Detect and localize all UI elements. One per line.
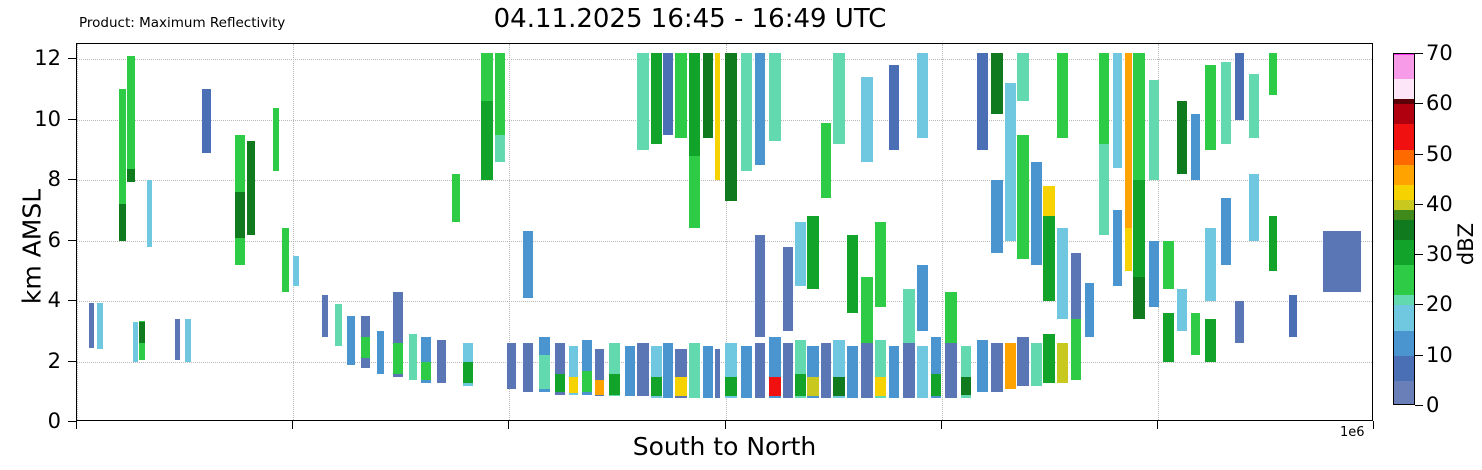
reflectivity-column: [1205, 44, 1216, 420]
reflectivity-segment: [961, 377, 971, 395]
reflectivity-segment: [725, 53, 737, 201]
reflectivity-column: [293, 44, 299, 420]
reflectivity-segment: [1235, 53, 1244, 120]
colorbar-segment: [1394, 104, 1414, 124]
reflectivity-column: [945, 44, 957, 420]
y-tick-mark: [68, 421, 76, 422]
reflectivity-segment: [715, 53, 720, 180]
reflectivity-segment: [1071, 319, 1081, 379]
reflectivity-segment: [755, 53, 765, 165]
reflectivity-segment: [689, 53, 700, 156]
reflectivity-segment: [507, 343, 516, 388]
reflectivity-segment: [991, 180, 1003, 253]
reflectivity-column: [1113, 44, 1122, 420]
reflectivity-segment: [495, 135, 505, 162]
reflectivity-segment: [769, 53, 781, 141]
reflectivity-segment: [663, 53, 673, 135]
reflectivity-segment: [1031, 343, 1042, 385]
reflectivity-segment: [335, 304, 342, 346]
reflectivity-segment: [795, 222, 806, 286]
reflectivity-segment: [889, 346, 899, 397]
reflectivity-segment: [675, 53, 687, 138]
reflectivity-segment: [755, 343, 765, 397]
reflectivity-segment: [1323, 231, 1361, 291]
reflectivity-segment: [609, 374, 620, 395]
reflectivity-segment: [861, 343, 873, 397]
reflectivity-column: [481, 44, 493, 420]
reflectivity-segment: [235, 192, 245, 237]
reflectivity-segment: [1133, 277, 1145, 319]
reflectivity-column: [689, 44, 700, 420]
reflectivity-segment: [139, 322, 145, 343]
reflectivity-segment: [769, 377, 781, 397]
colorbar-segment: [1394, 79, 1414, 99]
reflectivity-column: [1177, 44, 1187, 420]
reflectivity-column: [89, 44, 94, 420]
plot-area: [76, 43, 1373, 421]
y-tick-label: 8: [21, 167, 61, 191]
reflectivity-segment: [569, 377, 578, 394]
colorbar-tick-label: 60: [1426, 91, 1453, 115]
x-tick-mark: [76, 421, 77, 429]
y-tick-mark: [68, 300, 76, 301]
reflectivity-segment: [903, 289, 915, 349]
reflectivity-column: [637, 44, 649, 420]
reflectivity-column: [555, 44, 565, 420]
reflectivity-column: [1323, 44, 1361, 420]
x-tick-mark: [508, 421, 509, 429]
reflectivity-column: [409, 44, 417, 420]
reflectivity-segment: [1177, 101, 1187, 174]
colorbar-segment: [1394, 165, 1414, 185]
reflectivity-segment: [795, 374, 806, 397]
colorbar-segment: [1394, 381, 1414, 405]
x-tick-mark: [1373, 421, 1374, 429]
reflectivity-column: [393, 44, 403, 420]
reflectivity-segment: [1235, 301, 1244, 343]
colorbar-tick-mark: [1415, 103, 1423, 104]
colorbar-segment: [1394, 210, 1414, 220]
reflectivity-segment: [582, 371, 592, 392]
colorbar-segment: [1394, 265, 1414, 295]
reflectivity-column: [1133, 44, 1145, 420]
reflectivity-segment: [1205, 228, 1216, 301]
reflectivity-segment: [1177, 289, 1187, 331]
reflectivity-column: [1289, 44, 1297, 420]
reflectivity-segment: [1205, 65, 1216, 150]
reflectivity-column: [977, 44, 988, 420]
reflectivity-segment: [945, 292, 957, 349]
colorbar-tick-mark: [1415, 304, 1423, 305]
reflectivity-segment: [1191, 313, 1200, 355]
reflectivity-segment: [917, 53, 928, 138]
reflectivity-segment: [1269, 216, 1277, 270]
colorbar-segment: [1394, 295, 1414, 305]
reflectivity-segment: [931, 374, 941, 397]
colorbar-segment: [1394, 200, 1414, 210]
reflectivity-segment: [495, 53, 505, 135]
reflectivity-segment: [377, 331, 384, 373]
reflectivity-segment: [715, 349, 720, 397]
reflectivity-column: [463, 44, 473, 420]
y-tick-label: 10: [21, 107, 61, 131]
reflectivity-segment: [409, 334, 417, 379]
reflectivity-segment: [1269, 53, 1277, 95]
reflectivity-column: [861, 44, 873, 420]
reflectivity-segment: [1099, 53, 1109, 144]
reflectivity-column: [97, 44, 103, 420]
reflectivity-segment: [481, 53, 493, 101]
reflectivity-segment: [889, 65, 899, 150]
reflectivity-segment: [393, 343, 403, 373]
reflectivity-segment: [89, 303, 94, 348]
reflectivity-segment: [175, 319, 180, 360]
colorbar: [1393, 53, 1415, 405]
reflectivity-column: [795, 44, 806, 420]
y-tick-label: 12: [21, 46, 61, 70]
reflectivity-column: [715, 44, 720, 420]
reflectivity-column: [185, 44, 191, 420]
reflectivity-column: [903, 44, 915, 420]
reflectivity-segment: [903, 343, 915, 397]
reflectivity-segment: [847, 346, 858, 397]
reflectivity-segment: [725, 377, 737, 397]
reflectivity-column: [1099, 44, 1109, 420]
reflectivity-segment: [347, 316, 355, 364]
reflectivity-column: [889, 44, 899, 420]
reflectivity-column: [769, 44, 781, 420]
reflectivity-column: [452, 44, 460, 420]
x-axis-offset-text: 1e6: [1340, 425, 1365, 440]
reflectivity-segment: [1125, 228, 1132, 270]
reflectivity-segment: [675, 377, 687, 397]
x-tick-mark: [292, 421, 293, 429]
colorbar-segment: [1394, 331, 1414, 356]
reflectivity-column: [147, 44, 152, 420]
reflectivity-segment: [133, 322, 138, 361]
colorbar-segment: [1394, 240, 1414, 265]
x-tick-mark: [725, 421, 726, 429]
colorbar-tick-mark: [1415, 405, 1423, 406]
reflectivity-column: [651, 44, 662, 420]
reflectivity-column: [361, 44, 370, 420]
y-tick-mark: [68, 119, 76, 120]
reflectivity-segment: [637, 53, 649, 150]
reflectivity-column: [421, 44, 431, 420]
reflectivity-column: [1235, 44, 1244, 420]
reflectivity-segment: [1005, 343, 1016, 388]
reflectivity-segment: [703, 53, 713, 138]
reflectivity-segment: [1221, 198, 1231, 265]
reflectivity-column: [1005, 44, 1016, 420]
reflectivity-segment: [807, 216, 819, 289]
reflectivity-segment: [452, 174, 460, 222]
reflectivity-column: [609, 44, 620, 420]
reflectivity-segment: [875, 222, 886, 307]
reflectivity-segment: [755, 235, 765, 338]
x-axis-label: South to North: [76, 432, 1373, 461]
reflectivity-column: [991, 44, 1003, 420]
reflectivity-segment: [1113, 53, 1122, 168]
colorbar-segment: [1394, 356, 1414, 381]
reflectivity-column: [1017, 44, 1029, 420]
reflectivity-column: [1057, 44, 1068, 420]
reflectivity-segment: [807, 377, 819, 397]
reflectivity-segment: [861, 77, 873, 162]
y-tick-label: 2: [21, 349, 61, 373]
reflectivity-column: [569, 44, 578, 420]
reflectivity-segment: [917, 265, 928, 332]
y-tick-label: 6: [21, 228, 61, 252]
colorbar-tick-label: 30: [1426, 242, 1453, 266]
reflectivity-segment: [1191, 114, 1200, 181]
reflectivity-column: [931, 44, 941, 420]
colorbar-segment: [1394, 99, 1414, 104]
gridline-vertical: [77, 44, 78, 420]
reflectivity-column: [523, 44, 533, 420]
reflectivity-segment: [651, 377, 662, 397]
reflectivity-segment: [147, 180, 152, 247]
reflectivity-column: [847, 44, 858, 420]
reflectivity-segment: [421, 362, 431, 380]
colorbar-label: dBZ: [1454, 164, 1478, 324]
reflectivity-segment: [1163, 313, 1174, 361]
reflectivity-column: [437, 44, 446, 420]
reflectivity-segment: [1205, 319, 1216, 361]
reflectivity-column: [133, 44, 138, 420]
reflectivity-segment: [991, 343, 1003, 391]
reflectivity-column: [1163, 44, 1174, 420]
reflectivity-segment: [97, 303, 103, 350]
reflectivity-segment: [1133, 53, 1145, 180]
reflectivity-segment: [917, 346, 928, 397]
reflectivity-column: [507, 44, 516, 420]
reflectivity-segment: [663, 343, 673, 397]
colorbar-tick-label: 0: [1426, 393, 1439, 417]
y-tick-mark: [68, 240, 76, 241]
reflectivity-segment: [991, 53, 1003, 113]
reflectivity-column: [1071, 44, 1081, 420]
reflectivity-column: [725, 44, 737, 420]
y-tick-label: 4: [21, 288, 61, 312]
colorbar-segment: [1394, 220, 1414, 240]
reflectivity-column: [1149, 44, 1159, 420]
reflectivity-segment: [1005, 83, 1016, 240]
colorbar-segment: [1394, 305, 1414, 330]
reflectivity-column: [582, 44, 592, 420]
y-tick-mark: [68, 58, 76, 59]
reflectivity-segment: [1017, 135, 1029, 259]
reflectivity-segment: [783, 247, 793, 332]
reflectivity-column: [347, 44, 355, 420]
reflectivity-segment: [1057, 343, 1068, 382]
reflectivity-column: [755, 44, 765, 420]
reflectivity-column: [282, 44, 289, 420]
reflectivity-segment: [1149, 241, 1159, 308]
reflectivity-segment: [202, 89, 211, 153]
reflectivity-column: [539, 44, 550, 420]
reflectivity-column: [1125, 44, 1132, 420]
reflectivity-segment: [1085, 283, 1094, 337]
reflectivity-segment: [523, 343, 533, 391]
colorbar-tick-label: 20: [1426, 292, 1453, 316]
reflectivity-column: [703, 44, 713, 420]
reflectivity-column: [675, 44, 687, 420]
reflectivity-column: [875, 44, 886, 420]
reflectivity-segment: [463, 362, 473, 383]
reflectivity-segment: [637, 343, 649, 396]
reflectivity-segment: [1163, 241, 1174, 289]
y-tick-mark: [68, 179, 76, 180]
colorbar-tick-mark: [1415, 204, 1423, 205]
reflectivity-segment: [1057, 228, 1068, 319]
reflectivity-segment: [783, 343, 793, 397]
reflectivity-segment: [625, 346, 635, 396]
reflectivity-column: [807, 44, 819, 420]
reflectivity-segment: [293, 256, 299, 286]
reflectivity-column: [1085, 44, 1094, 420]
colorbar-tick-label: 40: [1426, 192, 1453, 216]
reflectivity-segment: [119, 89, 126, 204]
reflectivity-segment: [1043, 216, 1055, 301]
reflectivity-segment: [1057, 53, 1068, 138]
reflectivity-segment: [741, 53, 752, 171]
colorbar-tick-mark: [1415, 154, 1423, 155]
product-label: Product: Maximum Reflectivity: [79, 15, 285, 31]
reflectivity-segment: [1249, 174, 1259, 241]
reflectivity-segment: [1125, 53, 1132, 228]
reflectivity-column: [1221, 44, 1231, 420]
reflectivity-segment: [539, 355, 550, 388]
reflectivity-segment: [282, 228, 289, 292]
reflectivity-column: [961, 44, 971, 420]
reflectivity-column: [663, 44, 673, 420]
reflectivity-segment: [861, 277, 873, 344]
reflectivity-segment: [821, 123, 831, 199]
reflectivity-segment: [361, 337, 370, 358]
reflectivity-segment: [945, 343, 957, 397]
reflectivity-segment: [247, 141, 255, 235]
colorbar-tick-mark: [1415, 53, 1423, 54]
reflectivity-segment: [1221, 62, 1231, 144]
reflectivity-segment: [119, 204, 126, 240]
reflectivity-column: [625, 44, 635, 420]
reflectivity-segment: [847, 235, 858, 314]
reflectivity-segment: [1043, 186, 1055, 216]
reflectivity-segment: [1113, 210, 1122, 286]
colorbar-segment: [1394, 185, 1414, 200]
x-tick-mark: [941, 421, 942, 429]
colorbar-segment: [1394, 54, 1414, 79]
colorbar-tick-label: 50: [1426, 142, 1453, 166]
reflectivity-column: [495, 44, 505, 420]
reflectivity-segment: [1017, 337, 1029, 385]
x-tick-mark: [1157, 421, 1158, 429]
reflectivity-segment: [1031, 162, 1042, 265]
reflectivity-column: [821, 44, 831, 420]
reflectivity-segment: [595, 380, 604, 395]
reflectivity-column: [139, 44, 145, 420]
reflectivity-segment: [741, 346, 752, 397]
reflectivity-segment: [651, 53, 662, 144]
reflectivity-column: [741, 44, 752, 420]
reflectivity-column: [322, 44, 328, 420]
colorbar-tick-mark: [1415, 355, 1423, 356]
reflectivity-column: [1043, 44, 1055, 420]
reflectivity-column: [595, 44, 604, 420]
reflectivity-column: [1269, 44, 1277, 420]
reflectivity-column: [917, 44, 928, 420]
reflectivity-column: [119, 44, 126, 420]
reflectivity-column: [175, 44, 180, 420]
reflectivity-column: [235, 44, 245, 420]
reflectivity-segment: [523, 231, 533, 298]
reflectivity-column: [273, 44, 279, 420]
colorbar-segment: [1394, 54, 1414, 55]
reflectivity-segment: [322, 295, 328, 337]
reflectivity-segment: [833, 53, 845, 144]
reflectivity-segment: [437, 340, 446, 382]
reflectivity-segment: [977, 340, 988, 391]
reflectivity-segment: [833, 377, 845, 397]
colorbar-segment: [1394, 124, 1414, 149]
reflectivity-column: [833, 44, 845, 420]
reflectivity-column: [783, 44, 793, 420]
reflectivity-segment: [1149, 80, 1159, 180]
reflectivity-segment: [185, 319, 191, 361]
y-tick-label: 0: [21, 409, 61, 433]
reflectivity-segment: [875, 377, 886, 397]
reflectivity-segment: [703, 346, 713, 397]
reflectivity-segment: [555, 374, 565, 392]
reflectivity-segment: [1249, 74, 1259, 138]
reflectivity-segment: [1043, 334, 1055, 382]
reflectivity-column: [377, 44, 384, 420]
y-tick-mark: [68, 361, 76, 362]
reflectivity-segment: [1017, 53, 1029, 101]
reflectivity-segment: [821, 343, 831, 397]
reflectivity-column: [335, 44, 342, 420]
reflectivity-column: [1249, 44, 1259, 420]
colorbar-tick-label: 10: [1426, 343, 1453, 367]
reflectivity-column: [1031, 44, 1042, 420]
reflectivity-column: [247, 44, 255, 420]
colorbar-tick-label: 70: [1426, 41, 1453, 65]
reflectivity-segment: [977, 53, 988, 150]
colorbar-tick-mark: [1415, 254, 1423, 255]
reflectivity-segment: [689, 343, 700, 397]
colorbar-segment: [1394, 150, 1414, 165]
radar-cross-section-figure: 04.11.2025 16:45 - 16:49 UTC Product: Ma…: [0, 0, 1482, 470]
reflectivity-segment: [273, 108, 279, 172]
reflectivity-column: [202, 44, 211, 420]
reflectivity-segment: [1289, 295, 1297, 337]
gridline-vertical: [942, 44, 943, 420]
reflectivity-segment: [1071, 253, 1081, 326]
reflectivity-column: [1191, 44, 1200, 420]
reflectivity-segment: [689, 156, 700, 229]
